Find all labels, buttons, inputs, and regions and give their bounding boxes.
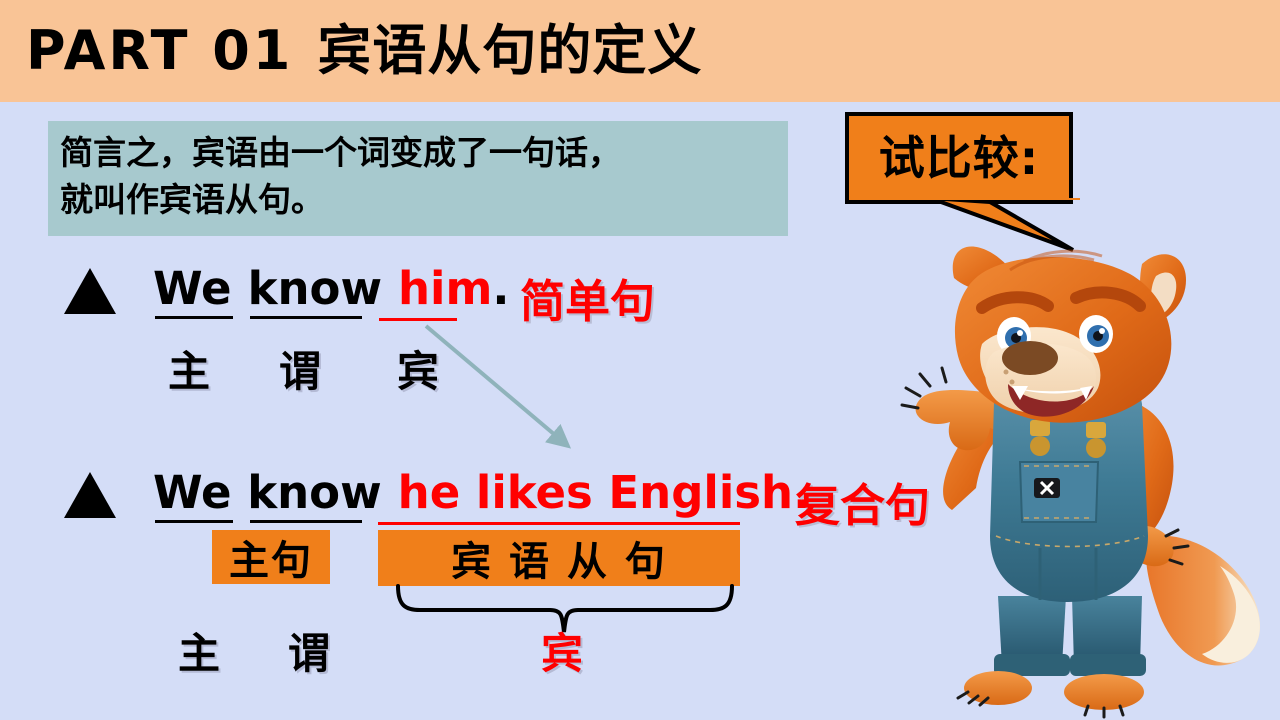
example1-bullet-triangle-icon [64,268,116,314]
header-title-cn: 宾语从句的定义 [317,19,702,82]
example1-object: him [398,262,492,315]
example2-object-clause: he likes English [398,466,793,519]
example2-object-clause-underline [378,522,740,525]
speech-bubble-label: 试比较: [879,132,1039,184]
connector-arrow-icon [420,318,610,468]
definition-text: 简言之，宾语由一个词变成了一句话， 就叫作宾语从句。 [60,129,778,223]
fox-mascot-image [890,236,1280,720]
example1-role-verb: 谓 [279,338,321,399]
example1-sentence: Weknowhim. [153,262,509,315]
slide-canvas: PART 01宾语从句的定义 简言之，宾语由一个词变成了一句话， 就叫作宾语从句… [0,0,1280,720]
page-title: PART 01宾语从句的定义 [26,18,702,84]
example2-role-object: 宾 [541,620,583,681]
definition-line-2: 就叫作宾语从句。 [60,176,778,223]
definition-line-1: 简言之，宾语由一个词变成了一句话， [60,129,778,176]
example1-verb-underline [250,316,362,319]
example2-main-clause: We know [153,466,382,519]
example2-verb-underline [250,520,362,523]
fox-legs [958,596,1146,717]
example1-period: . [492,262,509,315]
example2-object-clause-box: 宾 语 从 句 [378,530,740,586]
definition-box: 简言之，宾语由一个词变成了一句话， 就叫作宾语从句。 [48,121,788,236]
example1-verb: know [248,262,382,315]
example2-role-verb: 谓 [288,620,330,681]
example2-role-subject: 主 [178,620,220,681]
example1-role-subject: 主 [168,338,210,399]
example2-main-clause-box: 主句 [212,530,330,584]
fox-head [953,246,1186,422]
speech-bubble: 试比较: [845,112,1073,204]
example2-bullet-triangle-icon [64,472,116,518]
example1-subject-underline [155,316,233,319]
header-part-label: PART 01 [26,19,293,82]
example2-subject-underline [155,520,233,523]
example1-subject: We [153,262,232,315]
example2-sentence: We knowhe likes English. [153,466,810,519]
